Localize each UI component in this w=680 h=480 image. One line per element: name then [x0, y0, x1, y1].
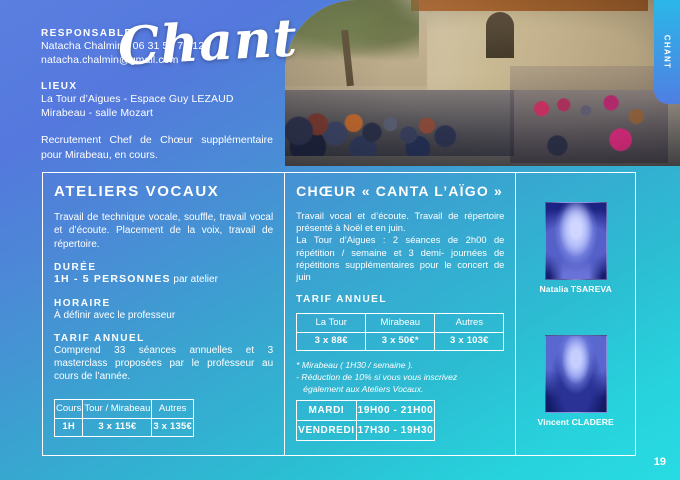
lieux-label: LIEUX	[41, 81, 289, 92]
panel-teachers: Natalia TSAREVA Vincent CLADERE	[516, 173, 635, 455]
table-cell-time: 17H30 - 19H30	[356, 421, 435, 441]
page-root: Chant CHANT RESPONSABLE Natacha Chalmin …	[0, 0, 680, 480]
teacher-name: Natalia TSAREVA	[539, 284, 612, 294]
lieu-item-1: La Tour d’Aigues - Espace Guy LEZAUD	[41, 93, 289, 107]
choeur-description-2: La Tour d’Aigues : 2 séances de 2h00 de …	[296, 234, 504, 283]
photo-vignette	[285, 0, 680, 166]
ateliers-duree-rest: par atelier	[171, 274, 218, 285]
section-tab-label: CHANT	[663, 35, 672, 70]
table-cell: 3 x 50€*	[366, 332, 435, 350]
table-row: VENDREDI 17H30 - 19H30	[297, 421, 435, 441]
ateliers-duree-strong: 1H - 5 PERSONNES	[54, 273, 171, 285]
table-cell: 3 x 135€	[152, 418, 194, 436]
choeur-tarif-label: TARIF ANNUEL	[296, 294, 504, 305]
ateliers-tarif-label: TARIF ANNUEL	[54, 333, 273, 344]
ateliers-description: Travail de technique vocale, souffle, tr…	[54, 211, 273, 251]
responsable-label: RESPONSABLE	[41, 28, 289, 39]
recruitment-note: Recrutement Chef de Chœur supplémentaire…	[41, 133, 273, 161]
ateliers-tarif-description: Comprend 33 séances annuelles et 3 maste…	[54, 344, 273, 384]
table-cell-day: VENDREDI	[297, 421, 356, 441]
panel-choeur-canta-laigo: CHŒUR « CANTA L’AÏGO » Travail vocal et …	[285, 173, 516, 455]
table-cell: 3 x 115€	[83, 418, 152, 436]
ateliers-horaire-value: À définir avec le professeur	[54, 309, 273, 322]
ateliers-duree-label: DURÉE	[54, 262, 273, 273]
section-tab-chant[interactable]: CHANT	[654, 0, 680, 104]
header-spacer	[41, 68, 289, 81]
table-header-cell: Mirabeau	[366, 314, 435, 332]
teacher-card-natalia: Natalia TSAREVA	[539, 202, 612, 294]
table-header-cell: Tour / Mirabeau	[83, 400, 152, 418]
responsable-email[interactable]: natacha.chalmin@gmail.com	[41, 54, 289, 68]
ateliers-horaire-label: HORAIRE	[54, 298, 273, 309]
choeur-title: CHŒUR « CANTA L’AÏGO »	[296, 183, 504, 199]
choir-concert-photo	[285, 0, 680, 166]
ateliers-title: ATELIERS VOCAUX	[54, 183, 273, 200]
table-header-cell: Autres	[435, 314, 504, 332]
table-header-cell: Autres	[152, 400, 194, 418]
header-info-block: RESPONSABLE Natacha Chalmin - 06 31 56 7…	[41, 28, 289, 162]
teacher-card-vincent: Vincent CLADERE	[538, 335, 614, 427]
footnote-line-2: - Réduction de 10% si vous vous inscrive…	[296, 372, 504, 384]
table-row: 3 x 88€ 3 x 50€* 3 x 103€	[297, 332, 504, 350]
content-frame: ATELIERS VOCAUX Travail de technique voc…	[42, 172, 636, 456]
table-row: Cours Tour / Mirabeau Autres	[55, 400, 194, 418]
footnote-line-2b: également aux Ateliers Vocaux.	[296, 384, 504, 396]
table-cell: 3 x 88€	[297, 332, 366, 350]
table-cell: 1H	[55, 418, 83, 436]
choeur-horaires-table: MARDI 19H00 - 21H00 VENDREDI 17H30 - 19H…	[296, 400, 435, 441]
choeur-footnotes: * Mirabeau ( 1H30 / semaine ). - Réducti…	[296, 360, 504, 396]
table-row: MARDI 19H00 - 21H00	[297, 401, 435, 421]
footnote-line-1: * Mirabeau ( 1H30 / semaine ).	[296, 360, 504, 372]
choeur-description-1: Travail vocal et d’écoute. Travail de ré…	[296, 210, 504, 234]
teacher-name: Vincent CLADERE	[538, 417, 614, 427]
header-spacer-2	[41, 120, 289, 133]
ateliers-tarif-table: Cours Tour / Mirabeau Autres 1H 3 x 115€…	[54, 399, 194, 437]
avatar-natalia	[545, 202, 607, 280]
panel-ateliers-vocaux: ATELIERS VOCAUX Travail de technique voc…	[43, 173, 285, 455]
table-header-cell: La Tour	[297, 314, 366, 332]
ateliers-duree-value: 1H - 5 PERSONNES par atelier	[54, 273, 273, 287]
choeur-tarif-table: La Tour Mirabeau Autres 3 x 88€ 3 x 50€*…	[296, 313, 504, 351]
lieu-item-2: Mirabeau - salle Mozart	[41, 107, 289, 121]
responsable-name-phone: Natacha Chalmin - 06 31 56 70 12	[41, 40, 289, 54]
table-cell: 3 x 103€	[435, 332, 504, 350]
table-cell-day: MARDI	[297, 401, 356, 421]
page-number: 19	[654, 456, 666, 468]
table-row: La Tour Mirabeau Autres	[297, 314, 504, 332]
table-cell-time: 19H00 - 21H00	[356, 401, 435, 421]
hero-photo-container	[285, 0, 680, 166]
table-header-cell: Cours	[55, 400, 83, 418]
table-row: 1H 3 x 115€ 3 x 135€	[55, 418, 194, 436]
avatar-vincent	[545, 335, 607, 413]
